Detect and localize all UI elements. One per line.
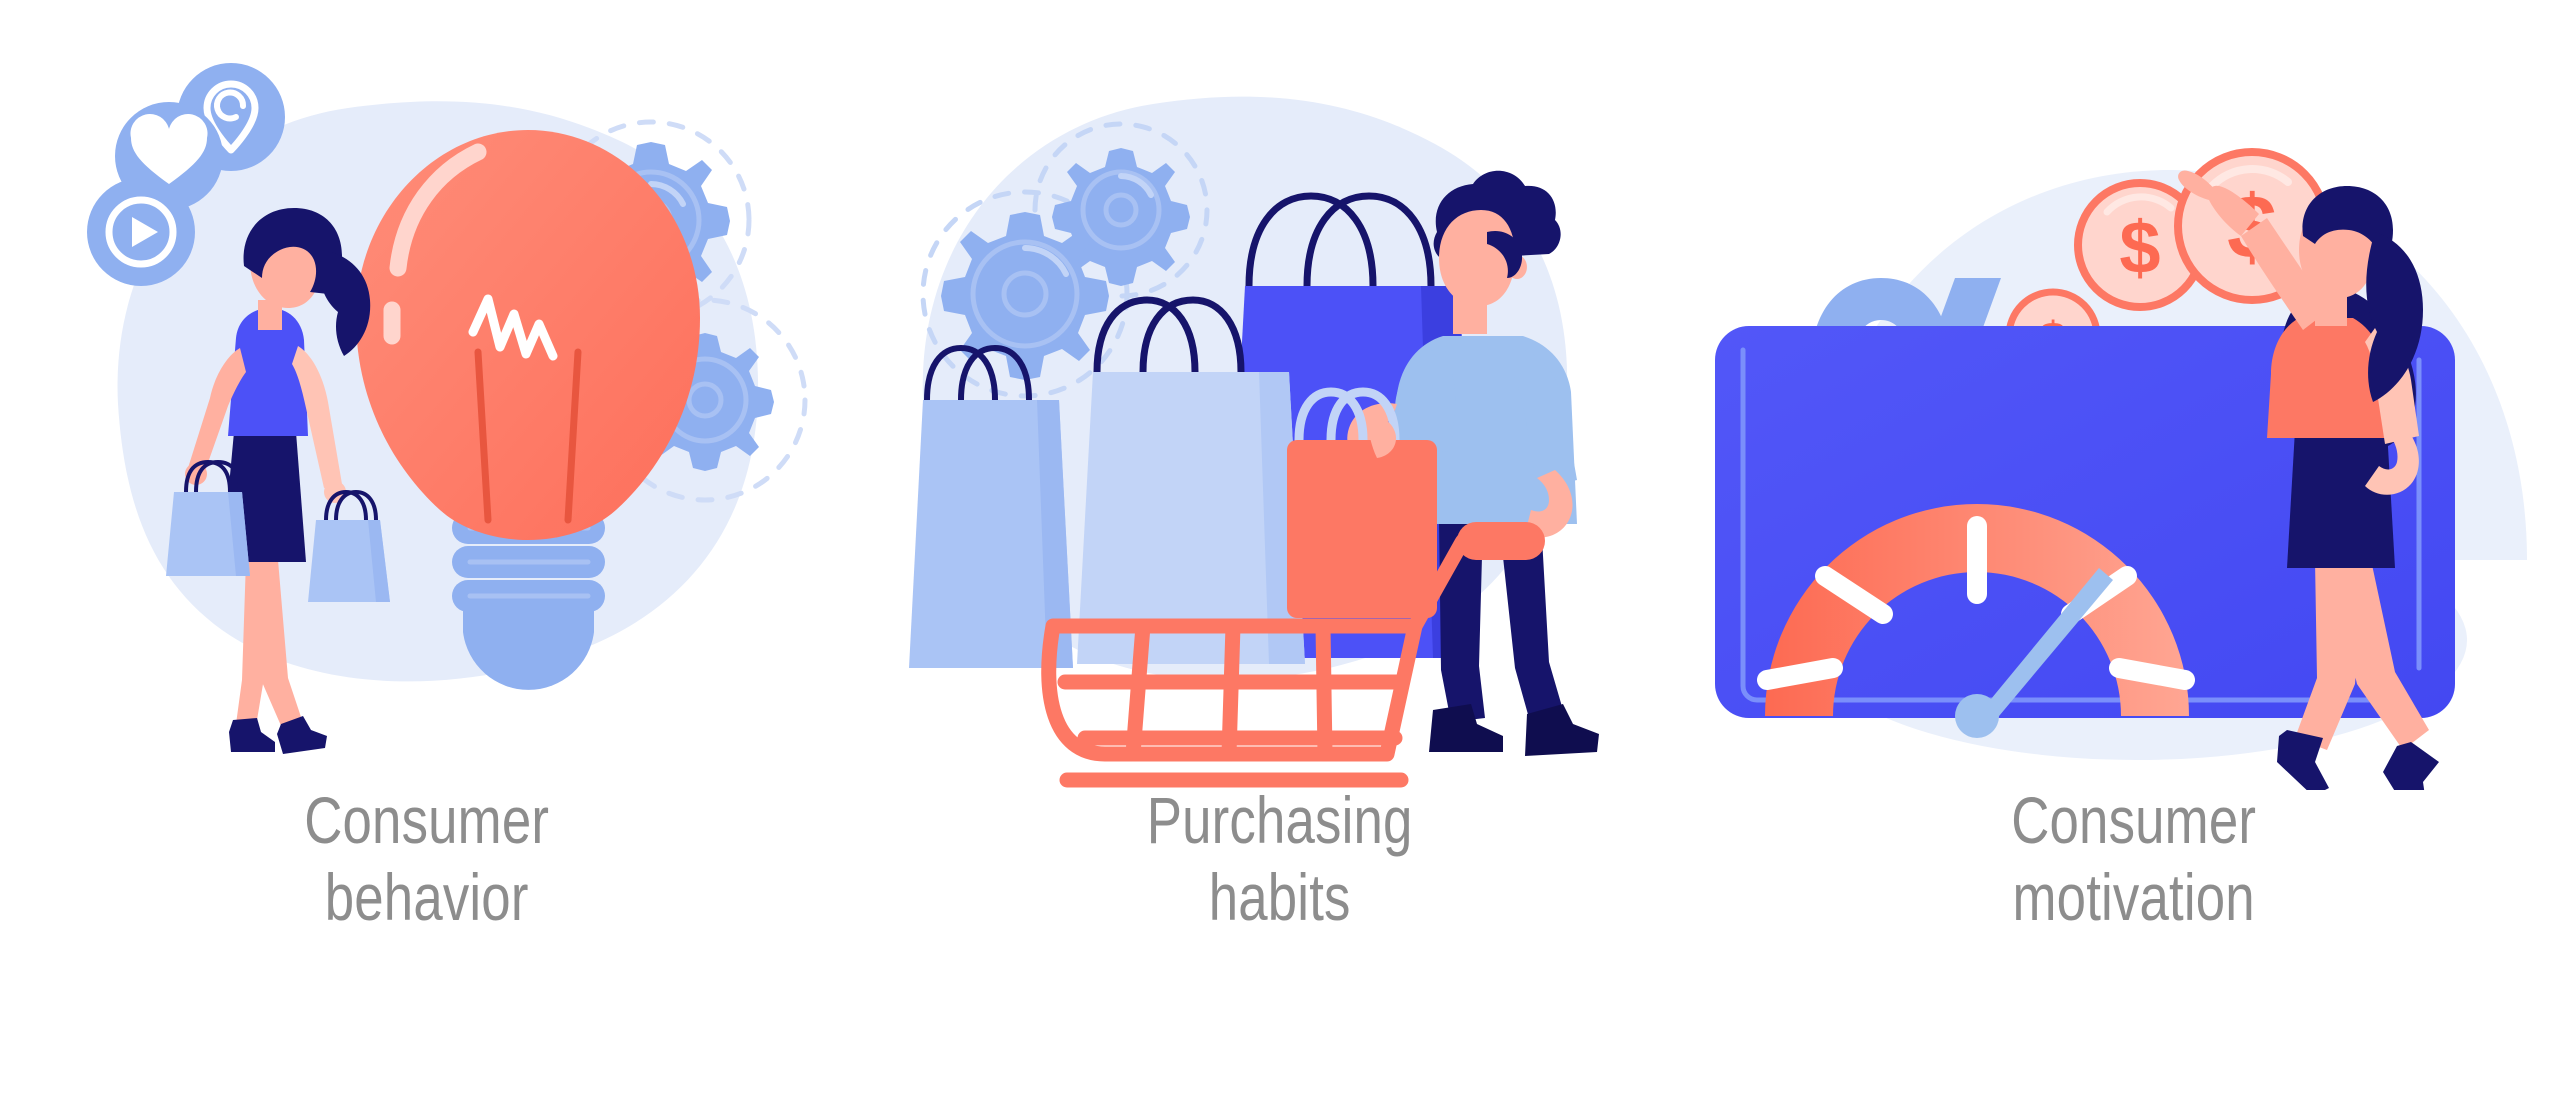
dollar-coin-medium-label: $: [2119, 206, 2160, 289]
panel-caption-purchasing-habits: Purchasing habits: [939, 782, 1622, 935]
panel-consumer-motivation: $ $ $: [1707, 0, 2560, 1097]
purchasing-habits-artwork: [853, 0, 1706, 790]
consumer-motivation-artwork: $ $ $: [1707, 0, 2560, 790]
consumer-behavior-artwork: [0, 0, 853, 790]
illustration-sheet: Consumer behavior: [0, 0, 2560, 1097]
shopping-cart-handle-grip: [1457, 522, 1545, 560]
panel-purchasing-habits: Purchasing habits: [853, 0, 1706, 1097]
gear-icon-large: [941, 212, 1109, 380]
panel-caption-consumer-behavior: Consumer behavior: [85, 782, 768, 935]
panel-caption-consumer-motivation: Consumer motivation: [1792, 782, 2475, 935]
panel-consumer-behavior: Consumer behavior: [0, 0, 853, 1097]
play-icon: [87, 178, 195, 286]
